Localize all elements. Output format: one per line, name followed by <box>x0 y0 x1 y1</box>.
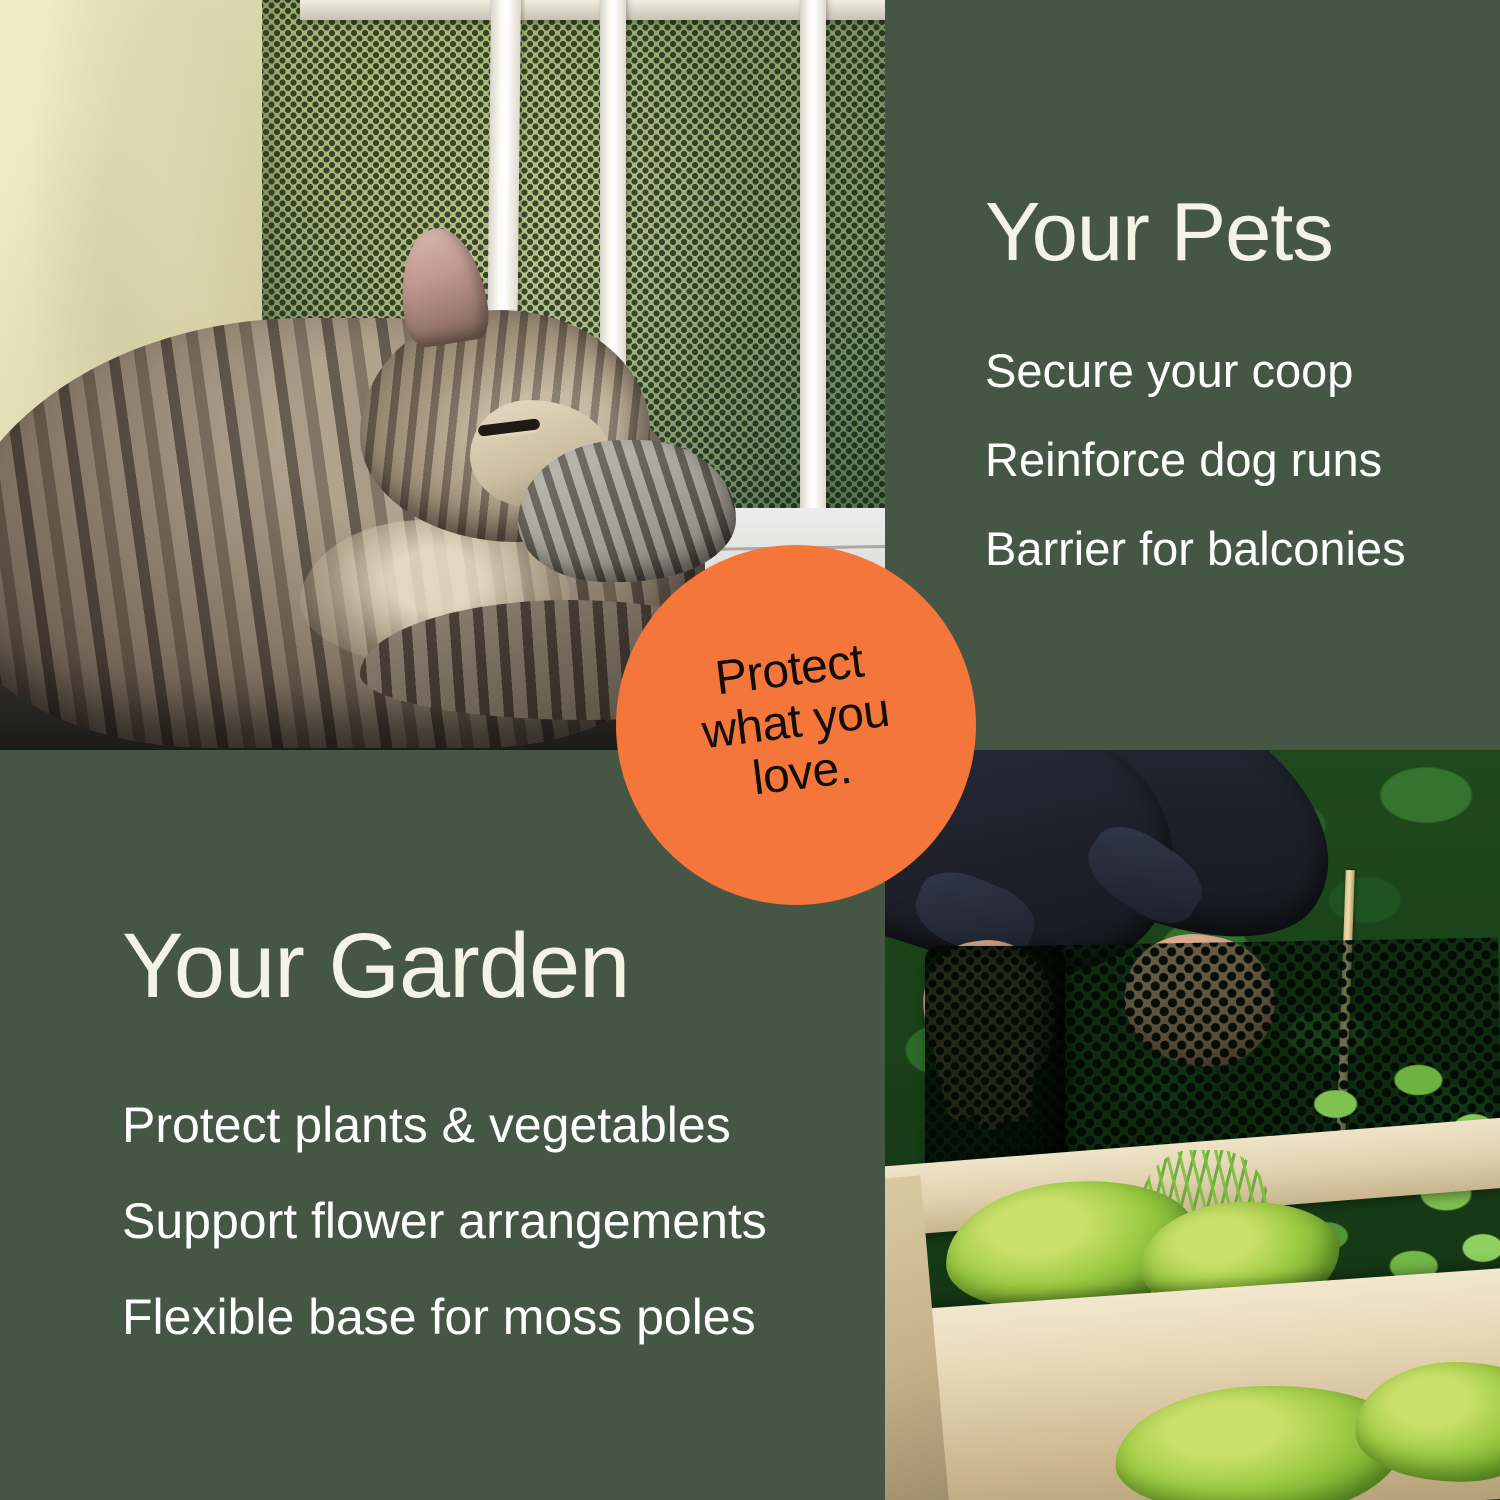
window-frame-rail-top <box>300 0 885 20</box>
pets-heading: Your Pets <box>985 190 1485 273</box>
list-item: Protect plants & vegetables <box>122 1100 862 1150</box>
garden-content-block: Your Garden Protect plants & vegetables … <box>122 920 862 1342</box>
benefits-poster: Your Pets Secure your coop Reinforce dog… <box>0 0 1500 1500</box>
list-item: Barrier for balconies <box>985 525 1485 572</box>
pets-benefit-list: Secure your coop Reinforce dog runs Barr… <box>985 347 1485 572</box>
garden-heading: Your Garden <box>122 920 862 1012</box>
list-item: Flexible base for moss poles <box>122 1292 862 1342</box>
hex-mesh-netting-roll <box>925 946 1065 1184</box>
promo-badge-text: Protect what you love. <box>693 633 899 816</box>
list-item: Support flower arrangements <box>122 1196 862 1246</box>
garden-benefit-list: Protect plants & vegetables Support flow… <box>122 1100 862 1342</box>
garden-scene <box>885 750 1500 1500</box>
promo-badge: Protect what you love. <box>616 545 976 905</box>
garden-photo <box>885 750 1500 1500</box>
pets-content-block: Your Pets Secure your coop Reinforce dog… <box>985 190 1485 572</box>
cat-paw <box>518 440 736 582</box>
list-item: Secure your coop <box>985 347 1485 394</box>
list-item: Reinforce dog runs <box>985 436 1485 483</box>
